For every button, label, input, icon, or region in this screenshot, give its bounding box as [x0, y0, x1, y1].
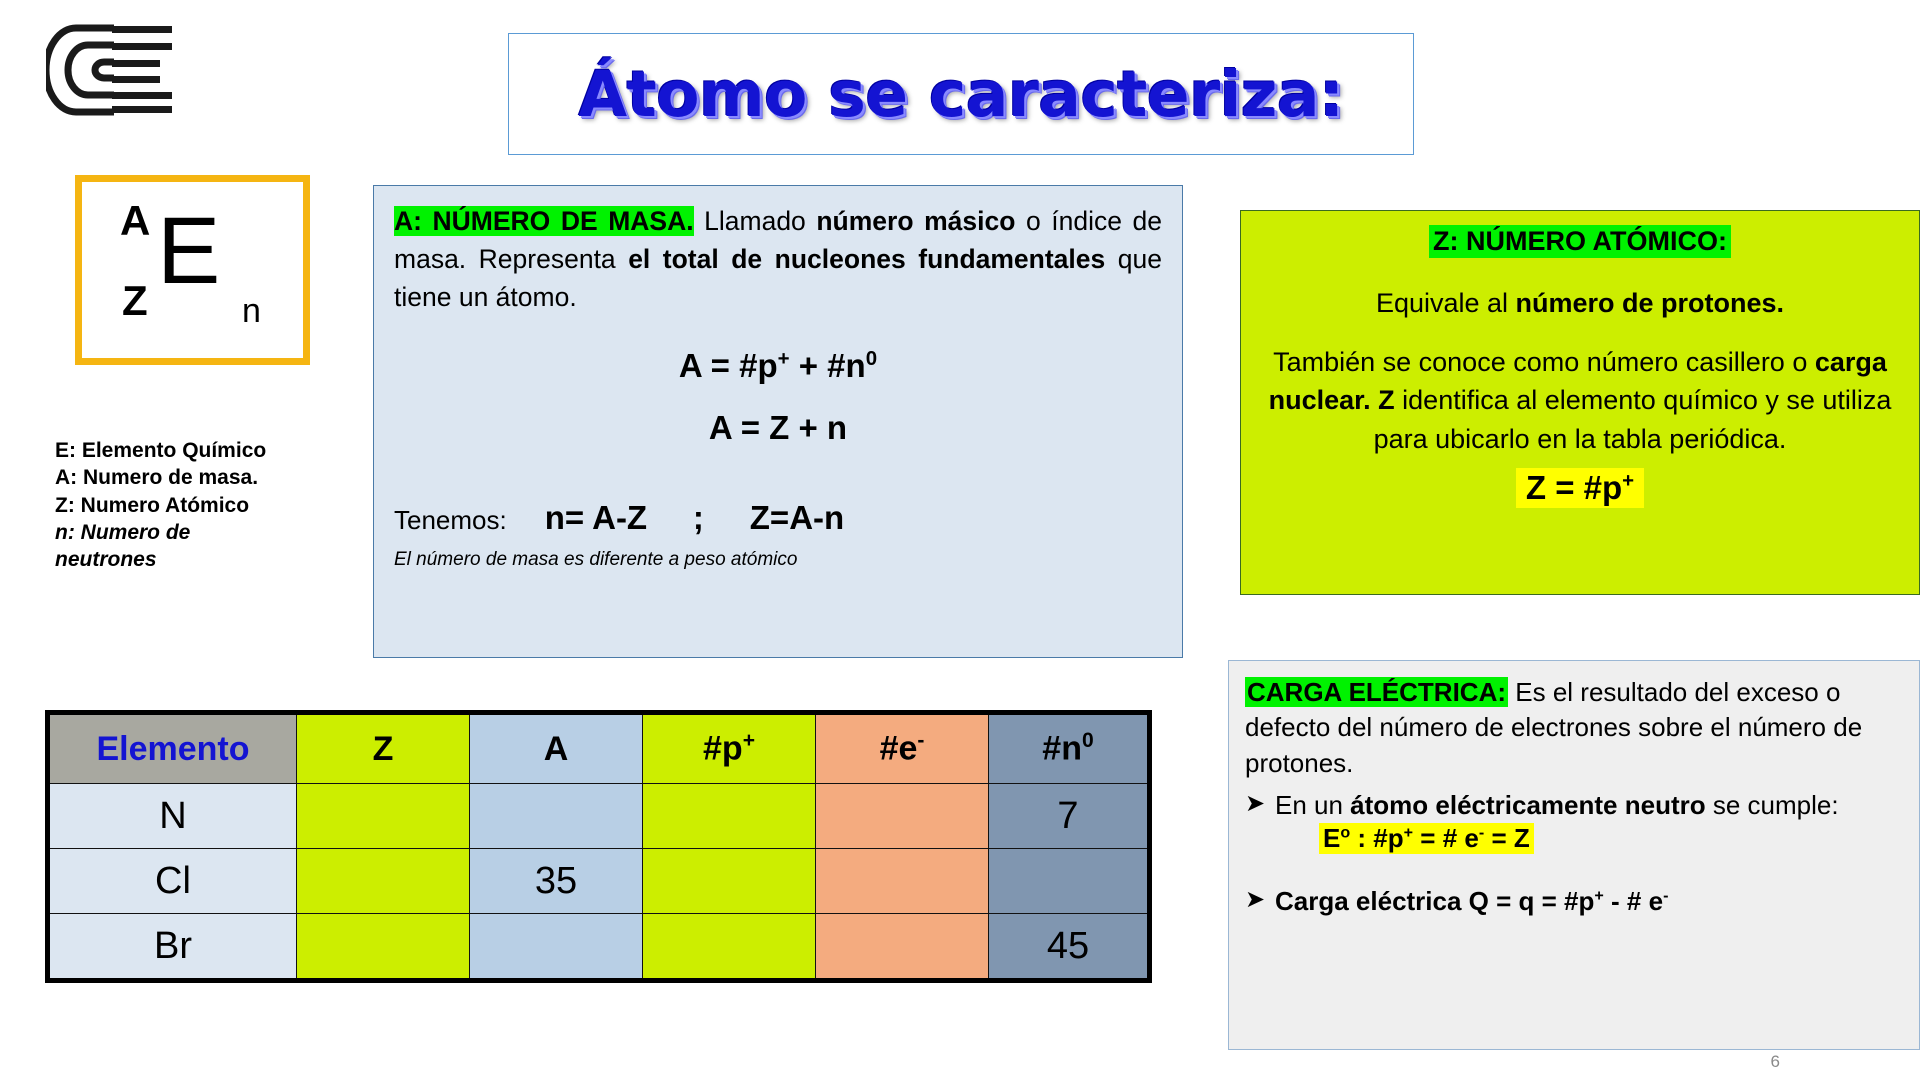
notation-mass-number: A [120, 197, 150, 245]
electric-charge-intro: CARGA ELÉCTRICA: Es el resultado del exc… [1245, 675, 1903, 781]
cell-elemento-row2: Cl [48, 849, 297, 914]
cell-protons-row1[interactable] [643, 784, 816, 849]
cell-electrons-row1[interactable] [816, 784, 989, 849]
notation-atomic-number: Z [122, 277, 148, 325]
cell-protons-row3[interactable] [643, 914, 816, 981]
library-book-logo-icon [46, 20, 186, 120]
cell-neutrons-row3: 45 [989, 914, 1150, 981]
electric-charge-heading: CARGA ELÉCTRICA: [1245, 677, 1508, 707]
mass-number-note: El número de masa es diferente a peso at… [394, 549, 1162, 571]
electric-charge-bullet-2: ➤ Carga eléctrica Q = q = #p+ - # e- [1245, 884, 1903, 919]
table-row: Cl35 [48, 849, 1150, 914]
table-row: N7 [48, 784, 1150, 849]
cell-z-row2[interactable] [297, 849, 470, 914]
page-title: Átomo se caracteriza: [578, 58, 1343, 131]
elements-exercise-table: Elemento Z A #p+ #e- #n0 N7Cl35Br45 [45, 710, 1152, 983]
mass-number-paragraph: A: NÚMERO DE MASA. Llamado número másico… [394, 203, 1162, 317]
arrow-bullet-icon-2: ➤ [1245, 884, 1275, 919]
cell-a-row3[interactable] [470, 914, 643, 981]
legend-line-5: neutrones [55, 546, 345, 573]
column-header-elemento: Elemento [48, 713, 297, 784]
tenemos-equations: n= A-Z ; Z=A-n [545, 499, 844, 537]
cell-elemento-row1: N [48, 784, 297, 849]
atomic-number-heading: Z: NÚMERO ATÓMICO: [1429, 225, 1731, 258]
mass-number-heading: A: NÚMERO DE MASA. [394, 206, 694, 236]
table-header-row: Elemento Z A #p+ #e- #n0 [48, 713, 1150, 784]
formula-z-equals-protons: Z = #p+ [1516, 468, 1644, 508]
cell-electrons-row2[interactable] [816, 849, 989, 914]
electric-charge-bullet-1: ➤ En un átomo eléctricamente neutro se c… [1245, 788, 1903, 823]
cell-a-row1[interactable] [470, 784, 643, 849]
legend-line-1: E: Elemento Químico [55, 437, 345, 464]
cell-z-row3[interactable] [297, 914, 470, 981]
arrow-bullet-icon: ➤ [1245, 788, 1275, 823]
column-header-a: A [470, 713, 643, 784]
legend-line-4: n: Numero de [55, 519, 345, 546]
tenemos-row: Tenemos: n= A-Z ; Z=A-n [394, 499, 1162, 537]
cell-z-row1[interactable] [297, 784, 470, 849]
column-header-electrons: #e- [816, 713, 989, 784]
cell-elemento-row3: Br [48, 914, 297, 981]
cell-electrons-row3[interactable] [816, 914, 989, 981]
tenemos-label: Tenemos: [394, 505, 507, 536]
cell-neutrons-row2[interactable] [989, 849, 1150, 914]
table-row: Br45 [48, 914, 1150, 981]
notation-neutron-count: n [242, 292, 261, 331]
column-header-z: Z [297, 713, 470, 784]
atomic-notation-card: A E Z n [75, 175, 310, 365]
formula-a-equals-z-plus-n: A = Z + n [394, 409, 1162, 447]
cell-protons-row2[interactable] [643, 849, 816, 914]
cell-neutrons-row1: 7 [989, 784, 1150, 849]
electric-charge-bullet-2-text: Carga eléctrica Q = q = #p+ - # e- [1275, 884, 1903, 919]
formula-neutral-atom: Eo : #p+ = # e- = Z [1319, 823, 1534, 854]
notation-element-symbol: E [157, 204, 220, 299]
atomic-number-paragraph-2: También se conoce como número casillero … [1263, 343, 1897, 458]
table-body: N7Cl35Br45 [48, 784, 1150, 981]
cell-a-row2: 35 [470, 849, 643, 914]
electric-charge-panel: CARGA ELÉCTRICA: Es el resultado del exc… [1228, 660, 1920, 1050]
legend-line-3: Z: Numero Atómico [55, 492, 345, 519]
atomic-number-panel: Z: NÚMERO ATÓMICO: Equivale al número de… [1240, 210, 1920, 595]
notation-legend: E: Elemento Químico A: Numero de masa. Z… [55, 437, 345, 573]
electric-charge-formula-row: Eo : #p+ = # e- = Z [1245, 823, 1903, 854]
slide-canvas: Átomo se caracteriza: A E Z n E: Element… [0, 0, 1920, 1080]
slide-title-box: Átomo se caracteriza: [508, 33, 1414, 155]
electric-charge-bullet-1-text: En un átomo eléctricamente neutro se cum… [1275, 788, 1903, 823]
column-header-protons: #p+ [643, 713, 816, 784]
mass-number-panel: A: NÚMERO DE MASA. Llamado número másico… [373, 185, 1183, 658]
atomic-number-paragraph-1: Equivale al número de protones. [1263, 288, 1897, 319]
page-number: 6 [1771, 1052, 1780, 1072]
column-header-neutrons: #n0 [989, 713, 1150, 784]
legend-line-2: A: Numero de masa. [55, 464, 345, 491]
formula-a-equals-p-plus-n: A = #p+ + #n0 [394, 347, 1162, 385]
